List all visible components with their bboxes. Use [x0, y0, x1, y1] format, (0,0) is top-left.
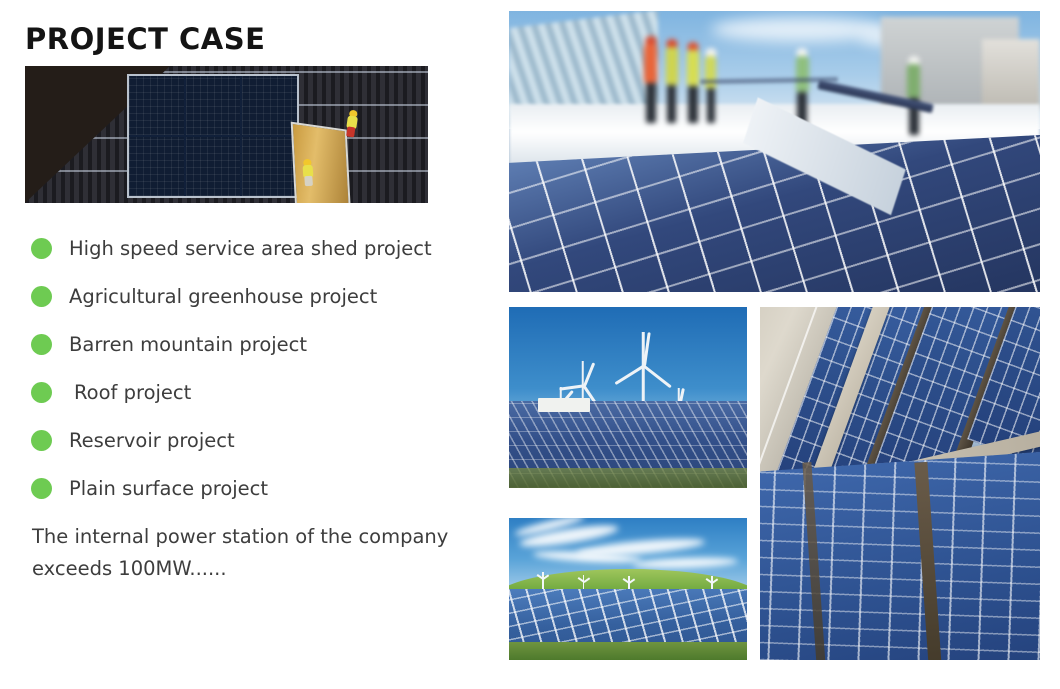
list-item-label: High speed service area shed project — [69, 237, 432, 260]
page-title: PROJECT CASE — [25, 22, 265, 56]
list-item: Agricultural greenhouse project — [31, 272, 481, 320]
list-item: Plain surface project — [31, 464, 481, 512]
wind-turbine — [542, 572, 544, 590]
worker-figure — [302, 159, 314, 186]
worker-figure — [705, 48, 716, 124]
worker-figure — [644, 36, 657, 123]
worker-figure — [687, 42, 699, 123]
list-item-label: Agricultural greenhouse project — [69, 285, 377, 308]
list-item: Barren mountain project — [31, 320, 481, 368]
aerial-rooftop-solar-photo — [760, 307, 1040, 660]
wind-farm-solar-photo — [509, 307, 747, 488]
roof-solar-array — [127, 74, 299, 198]
grey-building — [982, 39, 1040, 109]
bullet-dot-icon — [31, 238, 52, 259]
bullet-dot-icon — [31, 382, 52, 403]
tilted-solar-panel — [291, 122, 352, 203]
closing-note: The internal power station of the compan… — [32, 521, 452, 585]
list-item: Roof project — [31, 368, 481, 416]
list-item-label: Roof project — [74, 381, 191, 404]
list-item-label: Barren mountain project — [69, 333, 307, 356]
list-item: High speed service area shed project — [31, 224, 481, 272]
worker-figure — [907, 56, 920, 135]
worker-figure — [666, 39, 678, 123]
left-content-column: PROJECT CASE High speed service area she… — [0, 0, 500, 689]
list-item-label: Reservoir project — [69, 429, 235, 452]
list-item-label: Plain surface project — [69, 477, 268, 500]
list-item: Reservoir project — [31, 416, 481, 464]
grass-strip — [509, 642, 747, 660]
grassland-solar-photo — [509, 518, 747, 660]
service-building — [538, 398, 590, 412]
bullet-dot-icon — [31, 478, 52, 499]
roof-installation-photo — [25, 66, 428, 203]
solar-panel-field — [760, 450, 1040, 660]
bullet-dot-icon — [31, 286, 52, 307]
bullet-dot-icon — [31, 334, 52, 355]
bullet-dot-icon — [31, 430, 52, 451]
rooftop-array-workers-photo — [509, 11, 1040, 292]
grass-strip — [509, 468, 747, 488]
project-list: High speed service area shed project Agr… — [31, 224, 481, 512]
